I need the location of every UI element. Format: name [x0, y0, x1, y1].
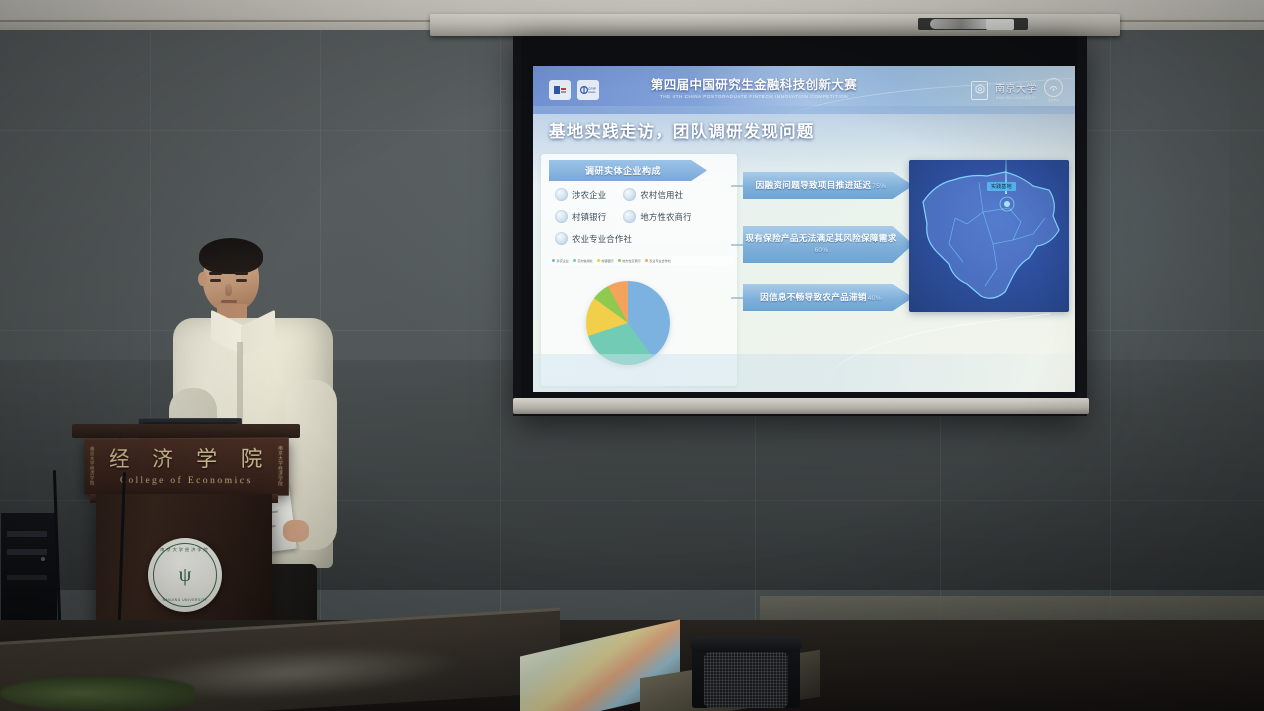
podium-plaque-cn: 经 济 学 院 — [100, 448, 271, 469]
chair-top-rim — [690, 636, 802, 652]
category-label-0: 涉农企业 — [572, 189, 606, 201]
nju-name-en: NANJING UNIVERSITY — [996, 96, 1036, 100]
finding-text-2: 因信息不畅导致农产品滞销40% — [760, 292, 882, 304]
finding-percent-2: 40% — [868, 295, 882, 302]
emblem-bottom-text: NANJING UNIVERSITY — [163, 598, 208, 602]
finding-label-0: 因融资问题导致项目推进延迟 — [756, 180, 872, 190]
slide-title: 基地实践走访，团队调研发现问题 — [549, 118, 815, 142]
screen-left-border — [513, 36, 521, 416]
finding-label-2: 因信息不畅导致农产品滞销 — [760, 292, 867, 302]
svg-text:CPIPC: CPIPC — [588, 87, 596, 91]
finding-label-1: 现有保险产品无法满足其风险保障需求 — [745, 233, 896, 243]
category-item-4: 农业专业合作社 — [555, 232, 632, 245]
table-plant-decor — [0, 676, 195, 711]
legend-item-4: 农业专业合作社 — [645, 258, 671, 263]
projected-slide: CPIPC 第四届中国研究生金融科技创新大赛 THE 4TH CHINA POS… — [533, 66, 1075, 392]
survey-composition-banner: 调研实体企业构成 — [549, 160, 707, 181]
partner-organization-logo — [1044, 78, 1063, 97]
presenter-eye-right — [236, 279, 247, 282]
presenter-hair — [199, 238, 263, 274]
legend-label-3: 地方性农商行 — [622, 258, 641, 263]
screen-right-border — [1077, 36, 1087, 416]
slide-left-logos: CPIPC — [549, 80, 599, 100]
category-label-3: 地方性农商行 — [640, 211, 691, 223]
legend-item-0: 涉农企业 — [552, 258, 569, 263]
partner-logo-caption: 主办单位 — [1044, 98, 1063, 102]
nju-name-cn: 南京大学 — [995, 80, 1037, 95]
plaque-side-text-right: 南京大学经济学院 — [277, 446, 283, 487]
projector-screen-housing — [430, 14, 1120, 36]
slide-right-logos: 南京大学 NANJING UNIVERSITY 主办单位 — [971, 78, 1063, 102]
screen-bottom-bar — [513, 398, 1089, 414]
presenter-hand-right — [283, 520, 309, 542]
china-postgraduate-logo — [549, 80, 571, 100]
chair-mesh — [704, 652, 788, 708]
bullet-dot-icon — [623, 210, 636, 223]
category-label-2: 村镇银行 — [572, 211, 606, 223]
slide-footer-band — [533, 354, 1075, 392]
finding-text-0: 因融资问题导致项目推进延迟75% — [756, 180, 887, 192]
plaque-side-text-left: 南京大学经济学院 — [89, 446, 95, 485]
legend-item-3: 地方性农商行 — [618, 258, 641, 263]
podium-top-surface — [72, 424, 300, 438]
office-chair — [686, 638, 804, 711]
presenter-eyebrow-left — [209, 272, 222, 275]
presenter-mouth — [221, 300, 237, 303]
legend-label-0: 涉农企业 — [557, 258, 569, 263]
bullet-dot-icon — [555, 210, 568, 223]
competition-title-en: THE 4TH CHINA POSTGRADUATE FINTECH INNOV… — [629, 94, 879, 99]
category-label-4: 农业专业合作社 — [572, 233, 632, 245]
category-item-1: 农村信用社 — [623, 188, 683, 201]
nanjing-university-wordmark: 南京大学 NANJING UNIVERSITY — [995, 80, 1037, 100]
university-emblem: 南京大学经济学院 ψ NANJING UNIVERSITY — [148, 538, 222, 612]
podium-nameplate: 南京大学经济学院 南京大学经济学院 经 济 学 院 College of Eco… — [85, 437, 289, 495]
finding-arrow-1: 现有保险产品无法满足其风险保障需求60% — [743, 226, 913, 263]
pie-chart-graphic — [586, 281, 670, 365]
presenter-eye-left — [210, 279, 221, 282]
bullet-dot-icon — [623, 188, 636, 201]
category-item-0: 涉农企业 — [555, 188, 606, 201]
legend-label-2: 村镇银行 — [601, 258, 613, 263]
category-label-1: 农村信用社 — [640, 189, 683, 201]
emblem-top-text: 南京大学经济学院 — [160, 547, 210, 553]
finding-percent-1: 60% — [814, 247, 828, 254]
finding-percent-0: 75% — [872, 183, 886, 190]
presenter-ear — [198, 272, 207, 286]
nanjing-university-shield-icon — [971, 81, 988, 100]
legend-label-1: 农村信用社 — [577, 258, 592, 263]
finding-text-1: 现有保险产品无法满足其风险保障需求60% — [743, 233, 899, 256]
presenter-nose — [225, 284, 232, 296]
emblem-ring: 南京大学经济学院 ψ NANJING UNIVERSITY — [153, 543, 217, 607]
category-item-2: 村镇银行 — [555, 210, 606, 223]
emblem-glyph-icon: ψ — [179, 565, 192, 585]
finding-arrow-0: 因融资问题导致项目推进延迟75% — [743, 172, 913, 199]
presenter-eyebrow-right — [235, 272, 248, 275]
enterprise-category-list: 涉农企业 农村信用社 村镇银行 地方性农商行 — [555, 188, 733, 254]
legend-item-2: 村镇银行 — [597, 258, 614, 263]
competition-title-cn: 第四届中国研究生金融科技创新大赛 — [629, 79, 879, 92]
bullet-dot-icon — [555, 188, 568, 201]
sichuan-map-graphic: 实践基地 — [909, 160, 1069, 312]
map-pin-label: 实践基地 — [987, 182, 1016, 191]
survey-composition-banner-label: 调研实体企业构成 — [585, 164, 661, 177]
cpipc-logo: CPIPC — [577, 80, 599, 100]
category-item-3: 地方性农商行 — [623, 210, 691, 223]
pie-chart-legend: 涉农企业 农村信用社 村镇银行 地方性农商行 农业专业合作社 — [549, 256, 735, 265]
podium-plaque-en: College of Economics — [118, 474, 253, 485]
bullet-dot-icon — [555, 232, 568, 245]
competition-title-block: 第四届中国研究生金融科技创新大赛 THE 4TH CHINA POSTGRADU… — [629, 79, 879, 99]
presentation-room-photo: CPIPC 第四届中国研究生金融科技创新大赛 THE 4TH CHINA POS… — [0, 0, 1264, 711]
legend-item-1: 农村信用社 — [573, 258, 593, 263]
legend-label-4: 农业专业合作社 — [649, 258, 671, 263]
finding-arrow-2: 因信息不畅导致农产品滞销40% — [743, 284, 913, 311]
